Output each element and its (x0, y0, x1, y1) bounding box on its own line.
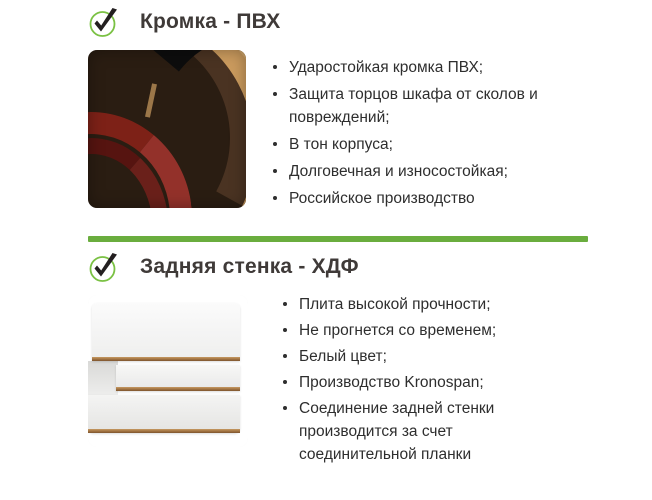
product-features-page: Кромка - ПВХ Ударостойкая кромка (0, 0, 652, 500)
photo-content (88, 295, 248, 447)
hdf-white-boards-photo (88, 295, 248, 447)
list-item: Долговечная и износостойкая; (272, 160, 557, 183)
pvc-edge-banding-coils-photo (88, 50, 246, 208)
list-item: Белый цвет; (282, 345, 549, 368)
check-circle-icon (86, 3, 124, 41)
board-edge (88, 429, 240, 433)
hdf-board-bottom (88, 395, 240, 433)
section-divider (88, 236, 588, 242)
section-pvc-edge: Кромка - ПВХ Ударостойкая кромка (0, 0, 652, 214)
hdf-board-top (92, 303, 240, 361)
hdf-board-middle (116, 365, 240, 391)
section-title-pvc-edge: Кромка - ПВХ (140, 10, 280, 34)
list-item: Защита торцов шкафа от сколов и поврежде… (272, 83, 557, 129)
list-item: Не прогнется со временем; (282, 319, 549, 342)
coil-oak-highlight (88, 50, 246, 208)
list-item: Ударостойкая кромка ПВХ; (272, 56, 557, 79)
section-header-pvc-edge: Кромка - ПВХ (0, 0, 652, 44)
section-title-hdf-back-panel: Задняя стенка - ХДФ (140, 255, 359, 279)
board-shadow (88, 361, 118, 395)
section-header-hdf-back-panel: Задняя стенка - ХДФ (0, 245, 652, 289)
board-edge (92, 357, 240, 361)
list-item: Соединение задней стенки производится за… (282, 397, 549, 466)
photo-content (88, 50, 246, 208)
section-hdf-back-panel: Задняя стенка - ХДФ Плит (0, 245, 652, 469)
list-item: В тон корпуса; (272, 133, 557, 156)
list-item: Российское производство (272, 187, 557, 210)
section-body-pvc-edge: Ударостойкая кромка ПВХ; Защита торцов ш… (0, 50, 652, 214)
feature-list-pvc-edge: Ударостойкая кромка ПВХ; Защита торцов ш… (272, 56, 557, 214)
list-item: Производство Kronospan; (282, 371, 549, 394)
section-body-hdf-back-panel: Плита высокой прочности; Не прогнется со… (0, 295, 652, 469)
list-item: Плита высокой прочности; (282, 293, 549, 316)
check-circle-icon (86, 248, 124, 286)
board-edge (116, 387, 240, 391)
feature-list-hdf-back-panel: Плита высокой прочности; Не прогнется со… (282, 293, 549, 469)
